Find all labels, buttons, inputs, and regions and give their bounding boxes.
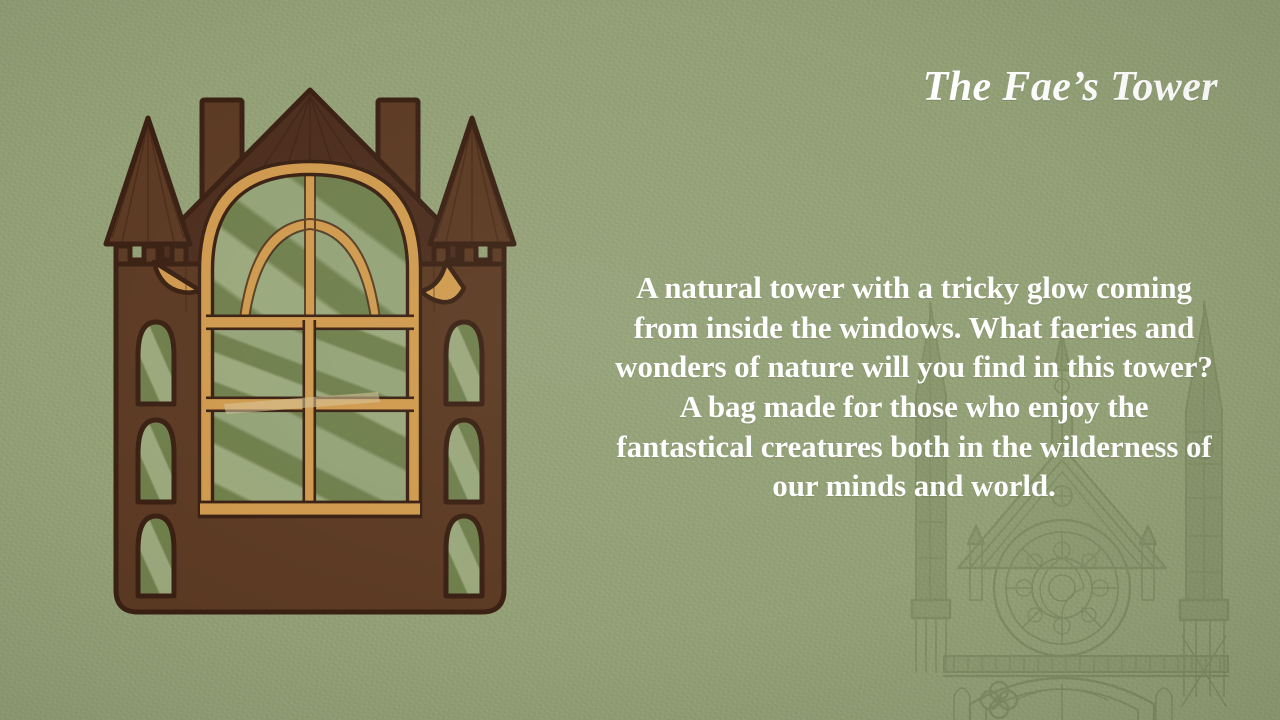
lancet-window [446, 322, 482, 404]
left-lancet-windows [138, 322, 174, 596]
lancet-window [446, 516, 482, 596]
page-title: The Fae’s Tower [610, 64, 1218, 110]
right-lancet-windows [446, 322, 482, 596]
lancet-window [446, 420, 482, 502]
text-column: The Fae’s Tower A natural tower with a t… [610, 0, 1218, 720]
description-text: A natural tower with a tricky glow comin… [610, 268, 1218, 506]
poster-canvas: The Fae’s Tower A natural tower with a t… [0, 0, 1280, 720]
window-mullion [303, 320, 317, 510]
lancet-window [138, 420, 174, 502]
window-sill [200, 501, 420, 518]
fae-tower-illustration [94, 74, 534, 634]
lancet-window [138, 322, 174, 404]
lancet-window [138, 516, 174, 596]
